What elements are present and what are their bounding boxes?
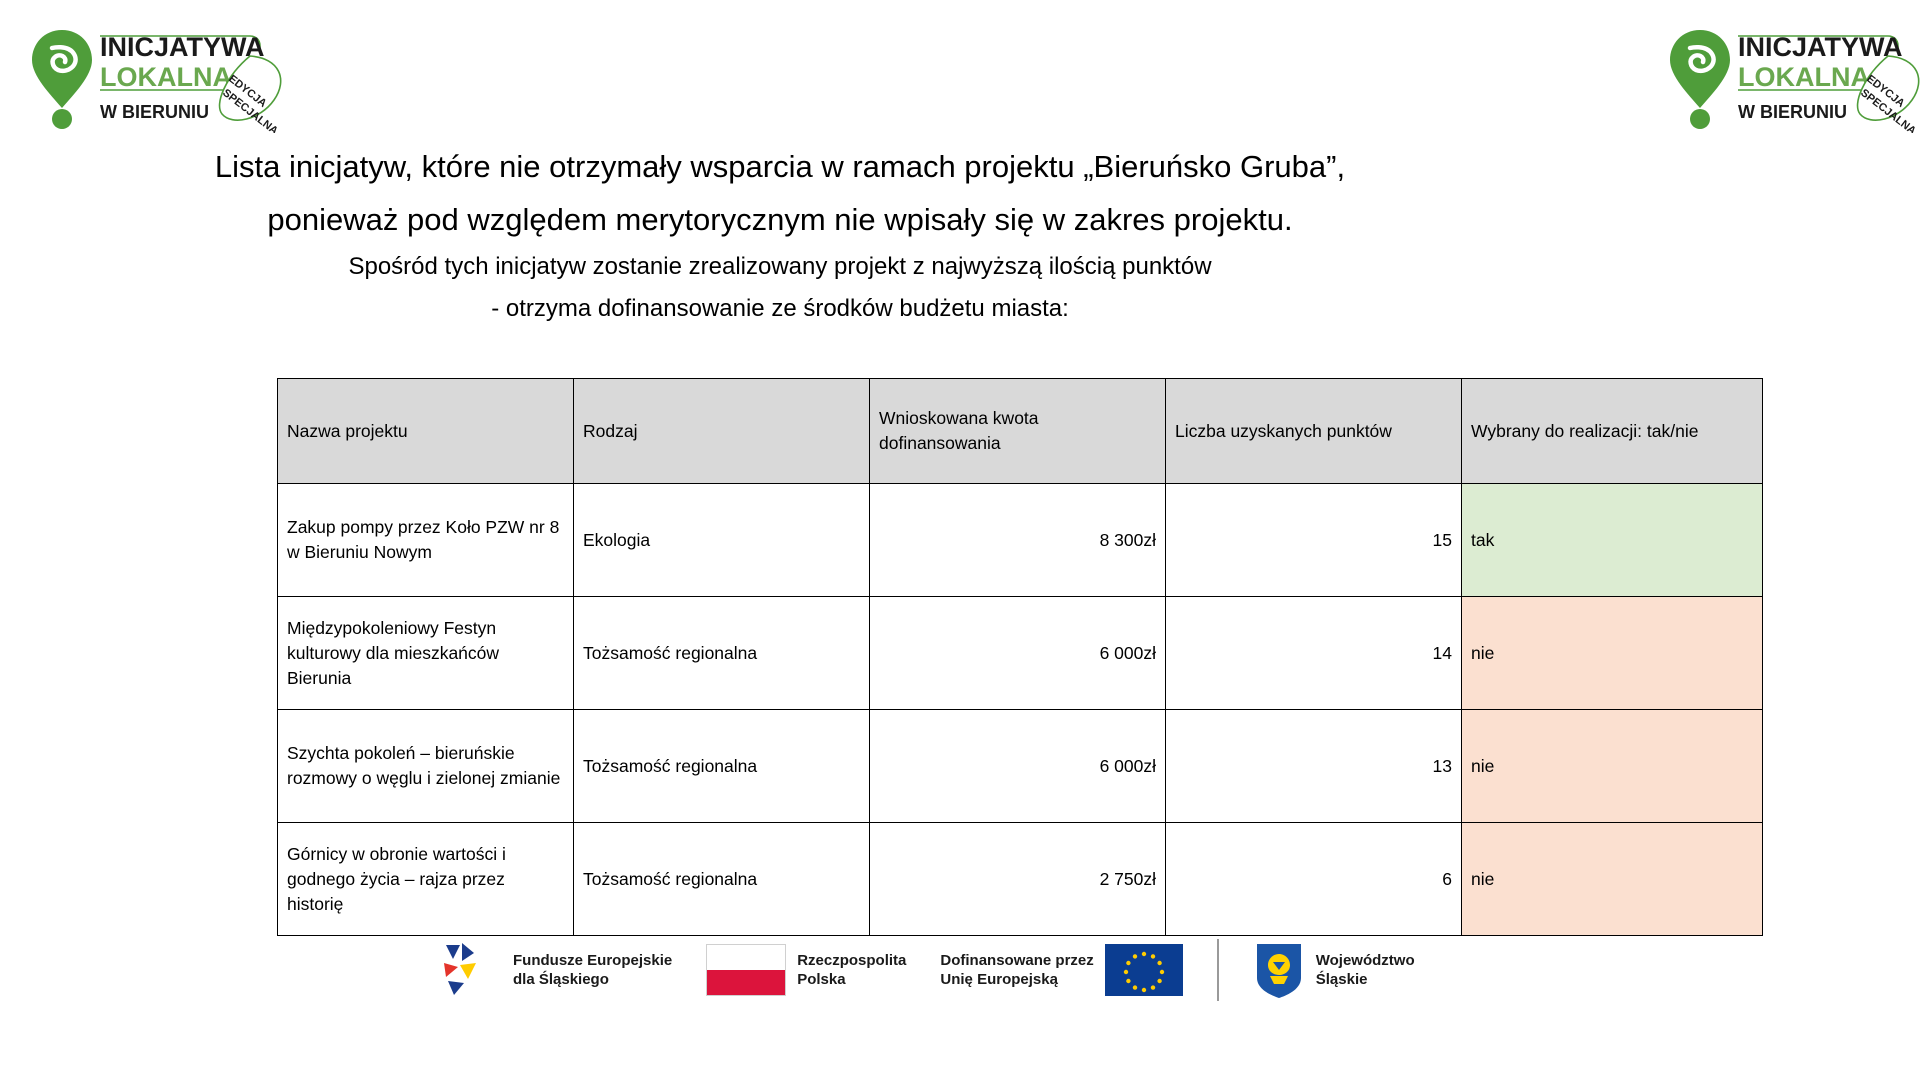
footer-divider: [1217, 939, 1219, 1001]
cell-project-kind: Tożsamość regionalna: [574, 823, 870, 936]
cell-project-points: 14: [1166, 597, 1462, 710]
cell-project-name: Międzypokoleniowy Festyn kulturowy dla m…: [278, 597, 574, 710]
fundusze-line-2: dla Śląskiego: [513, 970, 672, 989]
wojewodztwo-slaskie-text: Województwo Śląskie: [1316, 951, 1415, 989]
cell-project-amount: 6 000zł: [870, 597, 1166, 710]
table-header-kind: Rodzaj: [574, 379, 870, 484]
footer-rzeczpospolita-polska: Rzeczpospolita Polska: [706, 944, 906, 996]
table-row: Górnicy w obronie wartości i godnego życ…: [278, 823, 1763, 936]
cell-project-name: Górnicy w obronie wartości i godnego życ…: [278, 823, 574, 936]
eu-stars-icon: [1105, 944, 1183, 996]
pin-dot-icon: [52, 109, 72, 129]
rp-line-2: Polska: [797, 970, 906, 989]
initiatives-table: Nazwa projektu Rodzaj Wnioskowana kwota …: [277, 378, 1763, 936]
cell-project-selected: nie: [1462, 710, 1763, 823]
table-body: Zakup pompy przez Koło PZW nr 8 w Bierun…: [278, 484, 1763, 936]
eu-line-2: Unię Europejską: [940, 970, 1093, 989]
fundusze-europejskie-icon: [440, 941, 502, 999]
table-header-row: Nazwa projektu Rodzaj Wnioskowana kwota …: [278, 379, 1763, 484]
cell-project-name: Szychta pokoleń – bieruńskie rozmowy o w…: [278, 710, 574, 823]
table-header-name: Nazwa projektu: [278, 379, 574, 484]
page-title-block: Lista inicjatyw, które nie otrzymały wsp…: [180, 140, 1380, 330]
page-title-line-2: ponieważ pod względem merytorycznym nie …: [180, 193, 1380, 246]
table-row: Szychta pokoleń – bieruńskie rozmowy o w…: [278, 710, 1763, 823]
slaskie-coat-of-arms-icon: [1253, 940, 1305, 1000]
rzeczpospolita-text: Rzeczpospolita Polska: [797, 951, 906, 989]
cell-project-points: 15: [1166, 484, 1462, 597]
logo-text-inicjatywa: INICJATYWA: [100, 32, 265, 62]
logo-right-svg: INICJATYWA LOKALNA W BIERUNIU EDYCJA SPE…: [1660, 18, 1920, 133]
poland-flag-icon: [706, 944, 786, 996]
table-row: Zakup pompy przez Koło PZW nr 8 w Bierun…: [278, 484, 1763, 597]
logo-text-inicjatywa: INICJATYWA: [1738, 32, 1903, 62]
cell-project-amount: 8 300zł: [870, 484, 1166, 597]
pin-dot-icon: [1690, 109, 1710, 129]
woj-line-2: Śląskie: [1316, 970, 1415, 989]
cell-project-points: 13: [1166, 710, 1462, 823]
cell-project-kind: Ekologia: [574, 484, 870, 597]
cell-project-kind: Tożsamość regionalna: [574, 597, 870, 710]
cell-project-amount: 6 000zł: [870, 710, 1166, 823]
woj-line-1: Województwo: [1316, 951, 1415, 970]
cell-project-selected: nie: [1462, 597, 1763, 710]
logo-inicjatywa-lokalna-right: INICJATYWA LOKALNA W BIERUNIU EDYCJA SPE…: [1660, 18, 1920, 133]
initiatives-table-wrapper: Nazwa projektu Rodzaj Wnioskowana kwota …: [277, 378, 1667, 936]
page-title-line-1: Lista inicjatyw, które nie otrzymały wsp…: [180, 140, 1380, 193]
table-row: Międzypokoleniowy Festyn kulturowy dla m…: [278, 597, 1763, 710]
page-subtitle-line-1: Spośród tych inicjatyw zostanie zrealizo…: [180, 246, 1380, 288]
cell-project-kind: Tożsamość regionalna: [574, 710, 870, 823]
logo-text-w-bieruniu: W BIERUNIU: [1738, 102, 1847, 122]
cell-project-points: 6: [1166, 823, 1462, 936]
cell-project-name: Zakup pompy przez Koło PZW nr 8 w Bierun…: [278, 484, 574, 597]
logo-text-lokalna: LOKALNA: [100, 62, 232, 92]
logo-text-w-bieruniu: W BIERUNIU: [100, 102, 209, 122]
footer-logo-bar: Fundusze Europejskie dla Śląskiego Rzecz…: [440, 925, 1480, 1015]
fundusze-europejskie-text: Fundusze Europejskie dla Śląskiego: [513, 951, 672, 989]
page-subtitle-line-2: - otrzyma dofinansowanie ze środków budż…: [180, 288, 1380, 330]
footer-fundusze-europejskie: Fundusze Europejskie dla Śląskiego: [440, 941, 672, 999]
fundusze-line-1: Fundusze Europejskie: [513, 951, 672, 970]
unia-europejska-text: Dofinansowane przez Unię Europejską: [940, 951, 1093, 989]
cell-project-amount: 2 750zł: [870, 823, 1166, 936]
table-header-points: Liczba uzyskanych punktów: [1166, 379, 1462, 484]
footer-wojewodztwo-slaskie: Województwo Śląskie: [1253, 940, 1415, 1000]
footer-unia-europejska: Dofinansowane przez Unię Europejską: [940, 944, 1182, 996]
eu-line-1: Dofinansowane przez: [940, 951, 1093, 970]
cell-project-selected: tak: [1462, 484, 1763, 597]
table-header-amount: Wnioskowana kwota dofinansowania: [870, 379, 1166, 484]
logo-text-lokalna: LOKALNA: [1738, 62, 1870, 92]
logo-inicjatywa-lokalna-left: INICJATYWA LOKALNA W BIERUNIU EDYCJA SPE…: [22, 18, 292, 133]
logo-left-svg: INICJATYWA LOKALNA W BIERUNIU EDYCJA SPE…: [22, 18, 292, 133]
table-header-selected: Wybrany do realizacji: tak/nie: [1462, 379, 1763, 484]
eu-flag-icon: [1105, 944, 1183, 996]
table-header: Nazwa projektu Rodzaj Wnioskowana kwota …: [278, 379, 1763, 484]
cell-project-selected: nie: [1462, 823, 1763, 936]
rp-line-1: Rzeczpospolita: [797, 951, 906, 970]
